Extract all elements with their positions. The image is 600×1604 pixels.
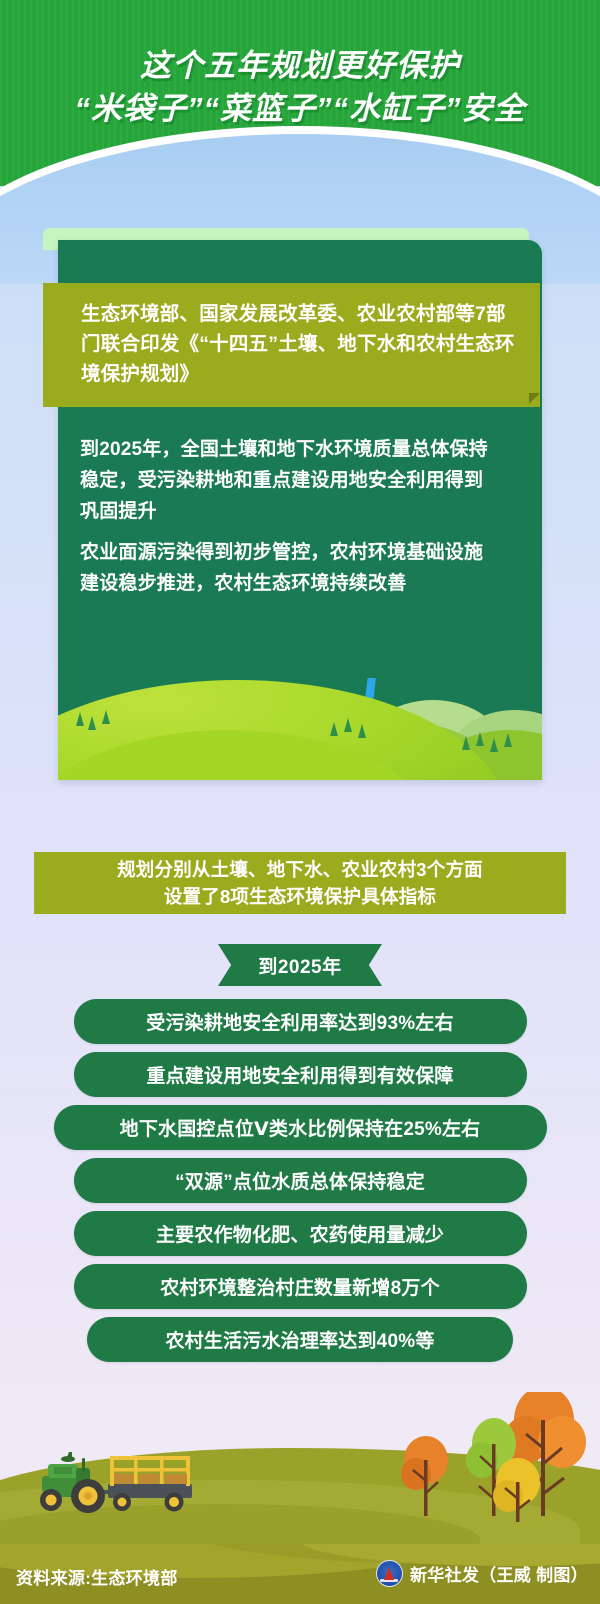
indicator-pill-label: 地下水国控点位Ⅴ类水比例保持在25%左右 xyxy=(120,1114,481,1141)
banner-notch-right xyxy=(529,393,540,404)
summary-ribbon-text: 规划分别从土壤、地下水、农业农村3个方面 设置了8项生态环境保护具体指标 xyxy=(34,852,566,914)
tree-icon xyxy=(102,710,110,724)
source-text: 资料来源:生态环境部 xyxy=(16,1564,178,1589)
credit-text: 新华社发（王威 制图） xyxy=(410,1561,588,1586)
indicator-pill-label: 重点建设用地安全利用得到有效保障 xyxy=(146,1061,453,1088)
tree-icon xyxy=(358,724,366,738)
tree-icon xyxy=(344,718,352,732)
indicator-pill: 主要农作物化肥、农药使用量减少 xyxy=(74,1211,527,1256)
xinhua-logo-icon xyxy=(376,1560,403,1587)
tree-icon xyxy=(476,732,484,746)
year-tag: 到2025年 xyxy=(218,944,382,986)
footer-illustration xyxy=(0,1392,600,1544)
autumn-trees-illustration xyxy=(386,1392,596,1536)
tree-icon xyxy=(504,733,512,747)
intro-paragraph-2: 农业面源污染得到初步管控，农村环境基础设施建设稳步推进，农村生态环境持续改善 xyxy=(80,537,498,599)
landscape-illustration xyxy=(58,635,542,780)
indicator-pill: 受污染耕地安全利用率达到93%左右 xyxy=(74,999,527,1044)
tree-icon xyxy=(330,722,338,736)
infographic-page: 这个五年规划更好保护 “米袋子”“菜篮子”“水缸子”安全 生态环境部 xyxy=(0,0,600,1604)
tractor-illustration xyxy=(22,1442,252,1520)
indicator-pill-label: 农村环境整治村庄数量新增8万个 xyxy=(160,1273,440,1300)
intro-paragraph-1: 到2025年，全国土壤和地下水环境质量总体保持稳定，受污染耕地和重点建设用地安全… xyxy=(80,434,498,527)
credit-group: 新华社发（王威 制图） xyxy=(376,1560,588,1587)
tree-icon xyxy=(88,716,96,730)
indicator-pill-label: 受污染耕地安全利用率达到93%左右 xyxy=(146,1008,453,1035)
indicator-pill: 农村环境整治村庄数量新增8万个 xyxy=(74,1264,527,1309)
indicator-pill: “双源”点位水质总体保持稳定 xyxy=(74,1158,527,1203)
document-title-text: 生态环境部、国家发展改革委、农业农村部等7部门联合印发《“十四五”土壤、地下水和… xyxy=(81,299,522,389)
indicator-pill-label: 农村生活污水治理率达到40%等 xyxy=(165,1326,434,1353)
indicator-pill: 农村生活污水治理率达到40%等 xyxy=(87,1317,513,1362)
year-tag-label: 到2025年 xyxy=(258,952,341,979)
indicator-pill-label: “双源”点位水质总体保持稳定 xyxy=(175,1167,425,1194)
indicator-pill-label: 主要农作物化肥、农药使用量减少 xyxy=(156,1220,444,1247)
tree-icon xyxy=(76,712,84,726)
document-title-banner: 生态环境部、国家发展改革委、农业农村部等7部门联合印发《“十四五”土壤、地下水和… xyxy=(43,283,540,407)
tree-icon xyxy=(490,738,498,752)
indicator-pill: 重点建设用地安全利用得到有效保障 xyxy=(74,1052,527,1097)
page-title: 这个五年规划更好保护 “米袋子”“菜篮子”“水缸子”安全 xyxy=(0,44,600,130)
indicator-list: 受污染耕地安全利用率达到93%左右重点建设用地安全利用得到有效保障地下水国控点位… xyxy=(0,999,600,1370)
tree-icon xyxy=(462,736,470,750)
indicator-pill: 地下水国控点位Ⅴ类水比例保持在25%左右 xyxy=(54,1105,547,1150)
